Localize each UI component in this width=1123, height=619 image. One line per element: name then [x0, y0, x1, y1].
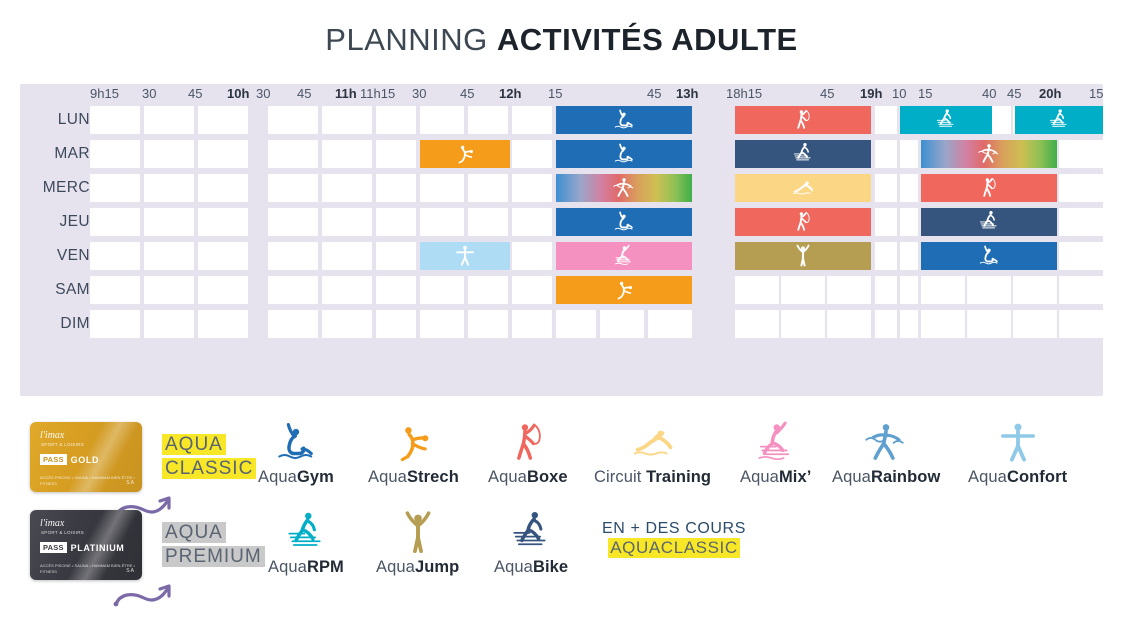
session-block-aquagym[interactable]	[556, 208, 692, 236]
legend-label-prefix: Aqua	[376, 558, 415, 576]
grid-cell[interactable]	[900, 242, 918, 270]
aquarainbow-icon	[863, 420, 909, 464]
legend-item-rainbow[interactable]: AquaRainbow	[832, 418, 940, 487]
grid-cell[interactable]	[90, 174, 140, 202]
grid-cell[interactable]	[198, 242, 248, 270]
grid-cell[interactable]	[90, 106, 140, 134]
grid-cell[interactable]	[600, 310, 644, 338]
grid-cell[interactable]	[268, 310, 318, 338]
grid-cell[interactable]	[875, 276, 897, 304]
aquaconfort-icon	[453, 244, 477, 267]
grid-cell[interactable]	[198, 208, 248, 236]
legend-section: l'imax SPORT & LOISIRS PASS GOLD ACCÈS P…	[0, 404, 1123, 596]
legend-label-prefix: Circuit	[594, 468, 646, 486]
grid-cell[interactable]	[875, 174, 897, 202]
grid-cell[interactable]	[875, 106, 897, 134]
page-title-bold: ACTIVITÉS ADULTE	[497, 22, 798, 57]
aquabike-icon	[494, 508, 568, 554]
grid-cell[interactable]	[144, 310, 194, 338]
aquamix-icon	[740, 418, 811, 464]
grid-cell[interactable]	[781, 276, 825, 304]
circuit-training-icon	[630, 420, 676, 464]
grid-cell[interactable]	[921, 276, 965, 304]
legend-label-bold: Mix’	[779, 468, 812, 486]
grid-cell[interactable]	[468, 276, 508, 304]
grid-cell[interactable]	[322, 140, 372, 168]
legend-item-mix[interactable]: AquaMix’	[740, 418, 811, 487]
legend-label-bold: Bike	[533, 558, 568, 576]
aquarpm-icon	[934, 108, 958, 131]
grid-cell[interactable]	[268, 174, 318, 202]
grid-cell[interactable]	[376, 310, 416, 338]
grid-cell[interactable]	[144, 174, 194, 202]
session-block-aquaboxe[interactable]	[735, 208, 871, 236]
page-title: PLANNING ACTIVITÉS ADULTE	[0, 0, 1123, 58]
aquarainbow-icon	[977, 142, 1001, 165]
grid-cell[interactable]	[268, 140, 318, 168]
grid-cell[interactable]	[1013, 310, 1057, 338]
pass-name-platinium: AQUA PREMIUM	[162, 521, 265, 569]
grid-cell[interactable]	[512, 208, 552, 236]
legend-label: AquaJump	[376, 558, 459, 577]
grid-cell[interactable]	[468, 208, 508, 236]
legend-label-prefix: Aqua	[258, 468, 297, 486]
grid-cell[interactable]	[900, 208, 918, 236]
circuit-training-icon	[791, 176, 815, 199]
grid-cell[interactable]	[90, 208, 140, 236]
grid-cell[interactable]	[875, 242, 897, 270]
aquarpm-icon	[268, 508, 344, 554]
grid-cell[interactable]	[420, 276, 464, 304]
session-block-aquabike[interactable]	[735, 140, 871, 168]
circuit-training-icon	[594, 418, 711, 464]
grid-cell[interactable]	[512, 242, 552, 270]
grid-cell[interactable]	[827, 276, 871, 304]
session-block-aquarainbow[interactable]	[921, 140, 1057, 168]
aquagym-icon	[258, 418, 334, 464]
legend-label-prefix: Aqua	[832, 468, 871, 486]
grid-cell[interactable]	[322, 276, 372, 304]
grid-cell[interactable]	[900, 310, 918, 338]
grid-cell[interactable]	[198, 174, 248, 202]
grid-cell[interactable]	[512, 140, 552, 168]
legend-label: AquaMix’	[740, 468, 811, 487]
legend-label-bold: Jump	[415, 558, 459, 576]
aquagym-icon	[273, 420, 319, 464]
aquaconfort-icon	[995, 420, 1041, 464]
grid-cell[interactable]	[1059, 310, 1103, 338]
grid-cell[interactable]	[144, 106, 194, 134]
session-block-aquaconfort[interactable]	[420, 242, 510, 270]
aquamix-icon	[753, 420, 799, 464]
session-block-aquarainbow[interactable]	[556, 174, 692, 202]
grid-cell[interactable]	[198, 276, 248, 304]
pass-tag-row: PASS PLATINIUM	[40, 542, 124, 553]
pass-name-line2: CLASSIC	[162, 458, 256, 479]
legend-item-training[interactable]: Circuit Training	[594, 418, 711, 487]
legend-label-prefix: Aqua	[494, 558, 533, 576]
grid-cell[interactable]	[420, 174, 464, 202]
grid-cell[interactable]	[198, 310, 248, 338]
grid-cell[interactable]	[322, 310, 372, 338]
grid-cell[interactable]	[921, 310, 965, 338]
session-block-aquajump[interactable]	[735, 242, 871, 270]
grid-cell[interactable]	[967, 276, 1011, 304]
legend-label-bold: Rainbow	[871, 468, 940, 486]
grid-cell[interactable]	[376, 242, 416, 270]
aquaboxe-icon	[488, 418, 568, 464]
aquamix-icon	[612, 244, 636, 267]
session-block-aquarpm[interactable]	[900, 106, 992, 134]
legend-label: AquaBoxe	[488, 468, 568, 487]
schedule-grid[interactable]	[20, 84, 1103, 396]
aquabike-icon	[791, 142, 815, 165]
aquarainbow-icon	[612, 176, 636, 199]
legend-item-bike[interactable]: AquaBike	[494, 508, 568, 577]
legend-label-bold: Strech	[407, 468, 459, 486]
grid-cell[interactable]	[268, 242, 318, 270]
extra-courses-line1: EN + DES COURS	[602, 520, 746, 538]
grid-cell[interactable]	[198, 140, 248, 168]
grid-cell[interactable]	[144, 276, 194, 304]
aquaboxe-icon	[791, 108, 815, 131]
aquarpm-icon	[283, 510, 329, 554]
aquaconfort-icon	[968, 418, 1067, 464]
grid-cell[interactable]	[875, 208, 897, 236]
grid-cell[interactable]	[512, 276, 552, 304]
grid-cell[interactable]	[468, 106, 508, 134]
grid-cell[interactable]	[90, 310, 140, 338]
grid-cell[interactable]	[268, 208, 318, 236]
pass-name-line1: AQUA	[162, 434, 226, 455]
aquastrech-icon	[390, 420, 436, 464]
grid-cell[interactable]	[556, 310, 596, 338]
grid-cell[interactable]	[90, 242, 140, 270]
grid-cell[interactable]	[1059, 276, 1103, 304]
pass-type: PLATINIUM	[71, 543, 125, 553]
grid-cell[interactable]	[468, 310, 508, 338]
session-block-aquarpm[interactable]	[1015, 106, 1103, 134]
aquagym-icon	[612, 210, 636, 233]
legend-item-boxe[interactable]: AquaBoxe	[488, 418, 568, 487]
aquaboxe-icon	[791, 210, 815, 233]
legend-item-gym[interactable]: AquaGym	[258, 418, 334, 487]
grid-cell[interactable]	[1059, 174, 1103, 202]
legend-label: AquaRPM	[268, 558, 344, 577]
legend-item-rpm[interactable]: AquaRPM	[268, 508, 344, 577]
grid-cell[interactable]	[198, 106, 248, 134]
aquajump-icon	[376, 508, 459, 554]
grid-cell[interactable]	[512, 106, 552, 134]
pass-tag-row: PASS GOLD	[40, 454, 99, 465]
aquarpm-icon	[1047, 108, 1071, 131]
session-block-aquaboxe[interactable]	[921, 174, 1057, 202]
grid-cell[interactable]	[900, 174, 918, 202]
aquabike-icon	[508, 510, 554, 554]
pass-card-gold[interactable]: l'imax SPORT & LOISIRS PASS GOLD ACCÈS P…	[30, 422, 142, 492]
aquastrech-icon	[453, 142, 477, 165]
legend-label-bold: RPM	[307, 558, 344, 576]
aquabike-icon	[977, 210, 1001, 233]
legend-label: AquaGym	[258, 468, 334, 487]
pass-tag: PASS	[40, 542, 67, 553]
grid-cell[interactable]	[827, 310, 871, 338]
aquagym-icon	[612, 108, 636, 131]
aquarainbow-icon	[832, 418, 940, 464]
grid-cell[interactable]	[322, 242, 372, 270]
grid-cell[interactable]	[376, 106, 416, 134]
grid-cell[interactable]	[420, 106, 464, 134]
legend-label: AquaRainbow	[832, 468, 940, 487]
legend-label: Circuit Training	[594, 468, 711, 487]
legend-label-prefix: Aqua	[268, 558, 307, 576]
pass-tag: PASS	[40, 454, 67, 465]
pass-brand-sub: SPORT & LOISIRS	[41, 530, 84, 535]
pass-name-line1: AQUA	[162, 522, 226, 543]
legend-label-bold: Boxe	[527, 468, 568, 486]
grid-cell[interactable]	[90, 276, 140, 304]
aquaboxe-icon	[977, 176, 1001, 199]
pass-mini-logos: S A	[126, 480, 134, 486]
grid-cell[interactable]	[1059, 140, 1103, 168]
grid-cell[interactable]	[144, 208, 194, 236]
grid-cell[interactable]	[967, 310, 1011, 338]
aquastrech-icon	[368, 418, 459, 464]
grid-cell[interactable]	[1059, 242, 1103, 270]
legend-label-prefix: Aqua	[968, 468, 1007, 486]
grid-cell[interactable]	[1059, 208, 1103, 236]
grid-cell[interactable]	[376, 140, 416, 168]
grid-cell[interactable]	[875, 310, 897, 338]
grid-cell[interactable]	[735, 310, 779, 338]
legend-label: AquaBike	[494, 558, 568, 577]
legend-label-prefix: Aqua	[488, 468, 527, 486]
grid-cell[interactable]	[420, 310, 464, 338]
legend-item-jump[interactable]: AquaJump	[376, 508, 459, 577]
session-block-aquastrech[interactable]	[556, 276, 692, 304]
grid-cell[interactable]	[322, 174, 372, 202]
grid-cell[interactable]	[322, 106, 372, 134]
legend-label: AquaConfort	[968, 468, 1067, 487]
aquajump-icon	[791, 244, 815, 267]
pass-brand-sub: SPORT & LOISIRS	[41, 442, 84, 447]
legend-item-confort[interactable]: AquaConfort	[968, 418, 1067, 487]
session-block-aquastrech[interactable]	[420, 140, 510, 168]
aquastrech-icon	[612, 278, 636, 301]
extra-courses-note: EN + DES COURS AQUACLASSIC	[602, 520, 746, 558]
grid-cell[interactable]	[512, 310, 552, 338]
grid-cell[interactable]	[376, 208, 416, 236]
session-block-aquabike[interactable]	[921, 208, 1057, 236]
grid-cell[interactable]	[1013, 276, 1057, 304]
legend-label-bold: Training	[646, 468, 711, 486]
grid-cell[interactable]	[144, 140, 194, 168]
grid-cell[interactable]	[322, 208, 372, 236]
aquaboxe-icon	[505, 420, 551, 464]
pass-row-gold: l'imax SPORT & LOISIRS PASS GOLD ACCÈS P…	[30, 422, 256, 492]
extra-courses-line2: AQUACLASSIC	[608, 538, 740, 558]
session-block-aquagym[interactable]	[921, 242, 1057, 270]
pass-mini-logos: S A	[126, 568, 134, 574]
pass-row-platinium: l'imax SPORT & LOISIRS PASS PLATINIUM AC…	[30, 510, 265, 580]
session-block-circuittraining[interactable]	[735, 174, 871, 202]
grid-cell[interactable]	[420, 208, 464, 236]
page-title-light: PLANNING	[325, 22, 497, 57]
legend-label: AquaStrech	[368, 468, 459, 487]
grid-cell[interactable]	[376, 276, 416, 304]
legend-item-strech[interactable]: AquaStrech	[368, 418, 459, 487]
grid-cell[interactable]	[875, 140, 897, 168]
planning-panel: 9h15304510h304511h11h15304512h154513h18h…	[20, 84, 1103, 396]
grid-cell[interactable]	[268, 276, 318, 304]
session-block-aquamix[interactable]	[556, 242, 692, 270]
aquagym-icon	[612, 142, 636, 165]
legend-label-prefix: Aqua	[740, 468, 779, 486]
pass-brand: l'imax	[40, 518, 64, 529]
grid-cell[interactable]	[268, 106, 318, 134]
session-block-aquaboxe[interactable]	[735, 106, 871, 134]
grid-cell[interactable]	[735, 276, 779, 304]
grid-cell[interactable]	[90, 140, 140, 168]
arrow-glyph	[110, 580, 180, 614]
grid-cell[interactable]	[376, 174, 416, 202]
pass-name-line2: PREMIUM	[162, 546, 265, 567]
pass-name-gold: AQUA CLASSIC	[162, 433, 256, 481]
grid-cell[interactable]	[468, 174, 508, 202]
grid-cell[interactable]	[900, 140, 918, 168]
aquagym-icon	[977, 244, 1001, 267]
curved-arrow-icon	[110, 580, 180, 619]
grid-cell[interactable]	[648, 310, 692, 338]
pass-brand: l'imax	[40, 430, 64, 441]
grid-cell[interactable]	[900, 276, 918, 304]
grid-cell[interactable]	[781, 310, 825, 338]
aquajump-icon	[395, 510, 441, 554]
pass-card-platinium[interactable]: l'imax SPORT & LOISIRS PASS PLATINIUM AC…	[30, 510, 142, 580]
grid-cell[interactable]	[144, 242, 194, 270]
pass-type: GOLD	[71, 455, 99, 465]
grid-cell[interactable]	[512, 174, 552, 202]
legend-label-prefix: Aqua	[368, 468, 407, 486]
legend-label-bold: Confort	[1007, 468, 1067, 486]
session-block-aquagym[interactable]	[556, 140, 692, 168]
session-block-aquagym[interactable]	[556, 106, 692, 134]
legend-label-bold: Gym	[297, 468, 334, 486]
